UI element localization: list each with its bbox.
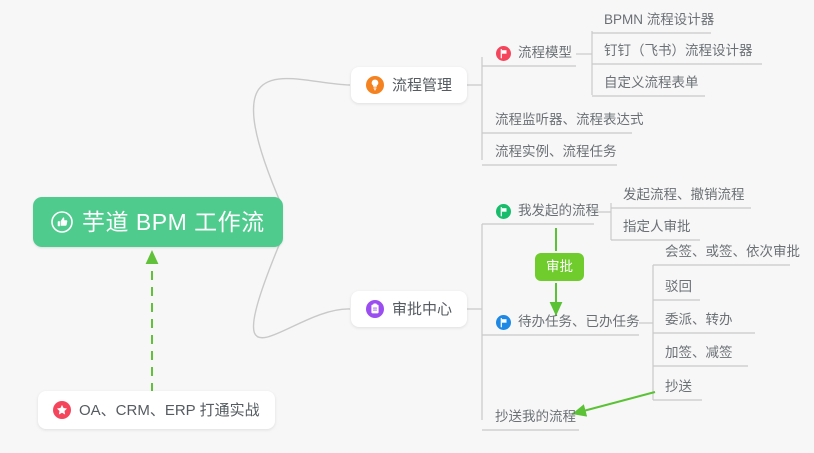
leaf-label-instance-task: 流程实例、流程任务	[495, 145, 617, 159]
leaf-label-cc: 抄送	[665, 380, 692, 394]
leaf-add-remove-sign[interactable]: 加签、减签	[659, 340, 741, 366]
leaf-process-model[interactable]: 流程模型	[490, 40, 580, 66]
leaf-label-dingtalk-designer: 钉钉（飞书）流程设计器	[604, 44, 753, 58]
star-icon	[53, 401, 71, 419]
leaf-label-reject: 驳回	[665, 280, 692, 294]
integration-note-node[interactable]: OA、CRM、ERP 打通实战	[38, 391, 275, 429]
leaf-delegate-transfer[interactable]: 委派、转办	[659, 307, 741, 333]
leaf-custom-form[interactable]: 自定义流程表单	[598, 70, 707, 96]
leaf-cc-my-process[interactable]: 抄送我的流程	[489, 404, 584, 430]
leaf-reject[interactable]: 驳回	[659, 274, 700, 300]
root-node[interactable]: 芋道 BPM 工作流	[33, 197, 283, 247]
leaf-label-delegate-transfer: 委派、转办	[665, 313, 733, 327]
leaf-instance-task[interactable]: 流程实例、流程任务	[489, 139, 625, 165]
branch-label-approval-center: 审批中心	[392, 302, 452, 317]
thumbs-up-icon	[51, 211, 73, 233]
flag-icon	[496, 46, 511, 61]
branch-node-process-management[interactable]: 流程管理	[351, 67, 467, 103]
branch-node-approval-center[interactable]: 审批中心	[351, 291, 467, 327]
branch-label-process-management: 流程管理	[392, 78, 452, 93]
leaf-todo-done[interactable]: 待办任务、已办任务	[490, 309, 648, 335]
leaf-countersign[interactable]: 会签、或签、依次审批	[659, 239, 808, 265]
leaf-label-process-model: 流程模型	[518, 46, 572, 60]
leaf-my-initiated[interactable]: 我发起的流程	[490, 198, 607, 224]
leaf-label-assignee-approve: 指定人审批	[623, 220, 691, 234]
clipboard-icon	[366, 300, 384, 318]
flag-icon	[496, 315, 511, 330]
leaf-dingtalk-designer[interactable]: 钉钉（飞书）流程设计器	[598, 38, 761, 64]
leaf-label-bpmn-designer: BPMN 流程设计器	[604, 13, 714, 27]
leaf-label-cc-my-process: 抄送我的流程	[495, 410, 576, 424]
leaf-label-my-initiated: 我发起的流程	[518, 204, 599, 218]
leaf-label-start-cancel: 发起流程、撤销流程	[623, 188, 745, 202]
root-label: 芋道 BPM 工作流	[82, 211, 265, 234]
leaf-bpmn-designer[interactable]: BPMN 流程设计器	[598, 7, 722, 33]
mindmap-canvas: 芋道 BPM 工作流 流程管理 审批中心	[0, 0, 814, 453]
flag-icon	[496, 204, 511, 219]
leaf-label-listener-expression: 流程监听器、流程表达式	[495, 113, 644, 127]
leaf-assignee-approve[interactable]: 指定人审批	[617, 214, 699, 240]
integration-note-label: OA、CRM、ERP 打通实战	[79, 403, 260, 418]
lightbulb-icon	[366, 76, 384, 94]
leaf-listener-expression[interactable]: 流程监听器、流程表达式	[489, 107, 652, 133]
leaf-start-cancel[interactable]: 发起流程、撤销流程	[617, 182, 753, 208]
approval-badge[interactable]: 审批	[535, 253, 584, 281]
leaf-label-custom-form: 自定义流程表单	[604, 76, 699, 90]
leaf-label-todo-done: 待办任务、已办任务	[518, 315, 640, 329]
approval-badge-label: 审批	[546, 260, 573, 274]
leaf-label-add-remove-sign: 加签、减签	[665, 346, 733, 360]
leaf-label-countersign: 会签、或签、依次审批	[665, 245, 800, 259]
leaf-cc[interactable]: 抄送	[659, 374, 700, 400]
